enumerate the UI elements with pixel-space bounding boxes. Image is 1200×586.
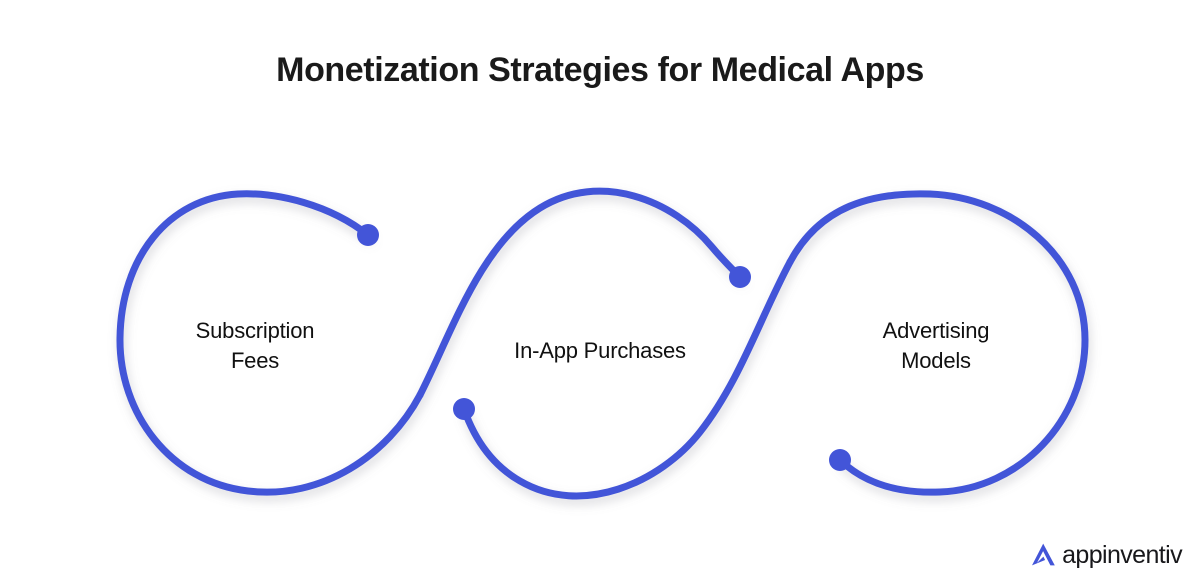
s-curve-diagram [0,0,1200,586]
brand-wordmark: appinventiv [1062,540,1182,570]
node-label-subscription-fees: Subscription Fees [130,316,380,376]
node-label-advertising-models: Advertising Models [820,316,1052,376]
infographic-canvas: Monetization Strategies for Medical Apps… [0,0,1200,586]
node-label-line: In-App Purchases [470,336,730,366]
brand-logo: appinventiv [1026,538,1182,572]
node-label-line: Advertising [820,316,1052,346]
node-label-line: Subscription [130,316,380,346]
dot-inapp-end [729,266,751,288]
dot-subscription-end [357,224,379,246]
node-label-line: Fees [130,346,380,376]
node-label-line: Models [820,346,1052,376]
node-label-in-app-purchases: In-App Purchases [470,336,730,366]
dot-advertising-start [829,449,851,471]
curve-inapp-lower [464,262,790,496]
dot-inapp-start [453,398,475,420]
appinventiv-a-chevron-icon [1026,538,1060,572]
